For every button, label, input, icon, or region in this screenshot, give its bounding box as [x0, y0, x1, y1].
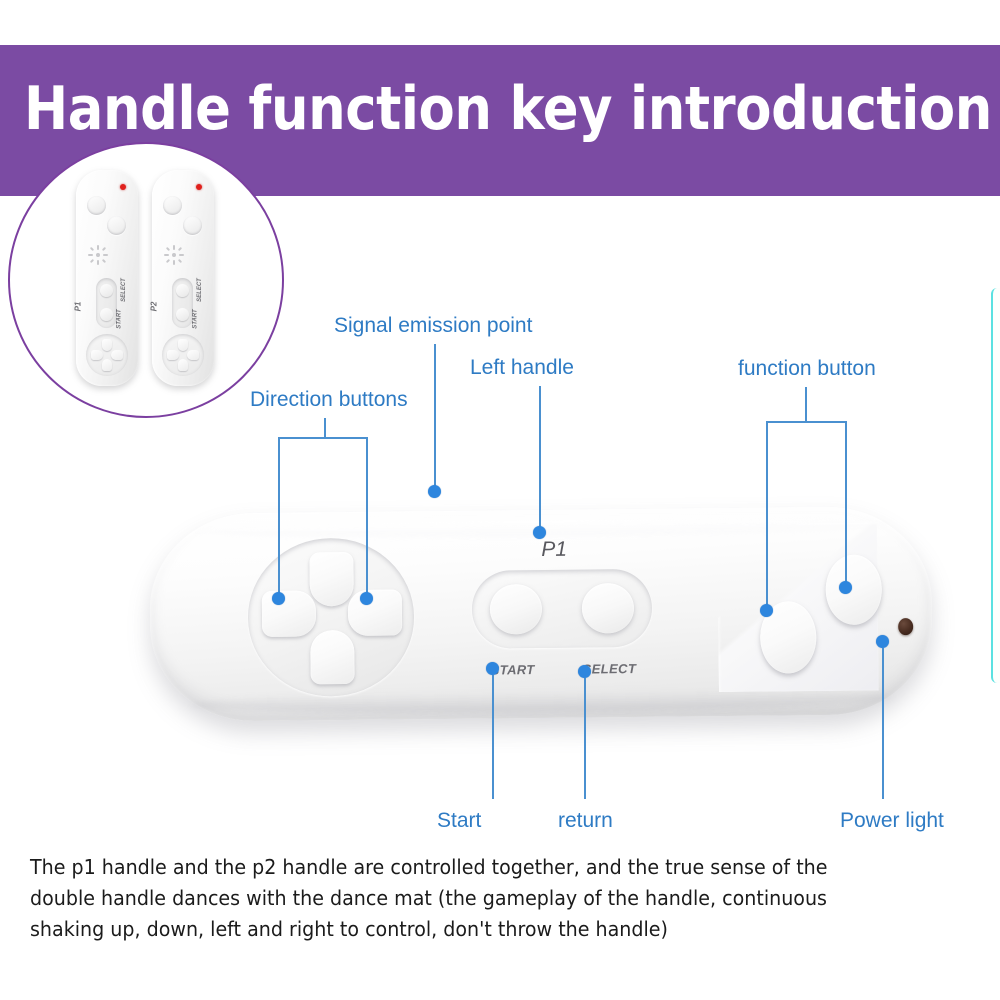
- callout-label-left-handle: Left handle: [470, 356, 574, 380]
- callout-label-power-light: Power light: [840, 809, 944, 833]
- leader-line-left-handle: [539, 386, 541, 529]
- round-button-a: [87, 196, 106, 215]
- start-select-pad: [172, 278, 193, 328]
- round-button-b: [183, 216, 202, 235]
- product-infographic-page: Handle function key introduction P1 SELE…: [0, 0, 1000, 1000]
- callout-label-function-button: function button: [738, 357, 876, 381]
- leader-line-power-light: [882, 648, 884, 799]
- leader-drop-function-button-right: [845, 421, 847, 585]
- callout-label-direction-buttons: Direction buttons: [250, 388, 408, 412]
- inset-dpad-p1: [86, 334, 128, 376]
- dpad-up-button[interactable]: [309, 552, 354, 606]
- inset-player-label-p2: P2: [149, 302, 158, 312]
- inset-remote-p1: P1 SELECT START: [76, 170, 138, 386]
- inset-select-label-p1: SELECT: [121, 278, 127, 302]
- callout-label-signal-emission-point: Signal emission point: [334, 314, 532, 338]
- leader-dot-function-button-top: [839, 581, 852, 594]
- inset-dpad-p2: [162, 334, 204, 376]
- dpad-left-button[interactable]: [262, 590, 316, 637]
- signal-emission-icon: [163, 244, 185, 266]
- leader-bar-direction-buttons: [278, 437, 367, 439]
- callout-label-return: return: [558, 809, 613, 833]
- inset-remote-p2: P2 SELECT START: [152, 170, 214, 386]
- start-button[interactable]: [490, 584, 543, 635]
- leader-line-start: [492, 675, 494, 799]
- leader-drop-function-button-left: [766, 421, 768, 607]
- leader-dot-function-button-bottom: [760, 604, 773, 617]
- start-select-well: [472, 569, 653, 649]
- description-paragraph: The p1 handle and the p2 handle are cont…: [30, 852, 886, 945]
- adjacent-panel-edge: [991, 288, 1000, 683]
- leader-dot-left-handle: [533, 526, 546, 539]
- start-select-pad: [96, 278, 117, 328]
- leader-line-signal-emission-point: [434, 344, 436, 488]
- round-button-b: [107, 216, 126, 235]
- leader-drop-direction-left: [278, 437, 280, 595]
- device-player-label: P1: [541, 538, 567, 562]
- led-indicator-icon: [120, 184, 126, 190]
- leader-dot-signal-emission-point: [428, 485, 441, 498]
- leader-dot-start: [486, 662, 499, 675]
- leader-dot-direction-left: [272, 592, 285, 605]
- leader-dot-power-light: [876, 635, 889, 648]
- leader-stem-function-button: [805, 387, 807, 422]
- leader-dot-direction-right: [360, 592, 373, 605]
- inset-photo-circle: P1 SELECT START P2 SE: [8, 142, 284, 418]
- leader-drop-direction-right: [366, 437, 368, 595]
- power-light-icon: [898, 618, 913, 635]
- inset-start-label-p2: START: [193, 309, 199, 328]
- leader-dot-return: [578, 665, 591, 678]
- select-button[interactable]: [582, 583, 635, 634]
- leader-line-return: [584, 678, 586, 799]
- inset-start-label-p1: START: [117, 309, 123, 328]
- dpad-down-button[interactable]: [310, 630, 355, 684]
- led-indicator-icon: [196, 184, 202, 190]
- inset-select-label-p2: SELECT: [197, 278, 203, 302]
- callout-label-start: Start: [437, 809, 481, 833]
- leader-stem-direction-buttons: [324, 418, 326, 438]
- leader-bar-function-button: [766, 421, 846, 423]
- inset-remotes-group: P1 SELECT START P2 SE: [10, 144, 282, 416]
- round-button-a: [163, 196, 182, 215]
- dpad-right-button[interactable]: [348, 589, 402, 636]
- inset-player-label-p1: P1: [73, 302, 82, 312]
- page-title: Handle function key introduction: [24, 77, 869, 141]
- function-button-top[interactable]: [825, 554, 882, 625]
- signal-emission-icon: [87, 244, 109, 266]
- direction-pad-well: [247, 537, 415, 697]
